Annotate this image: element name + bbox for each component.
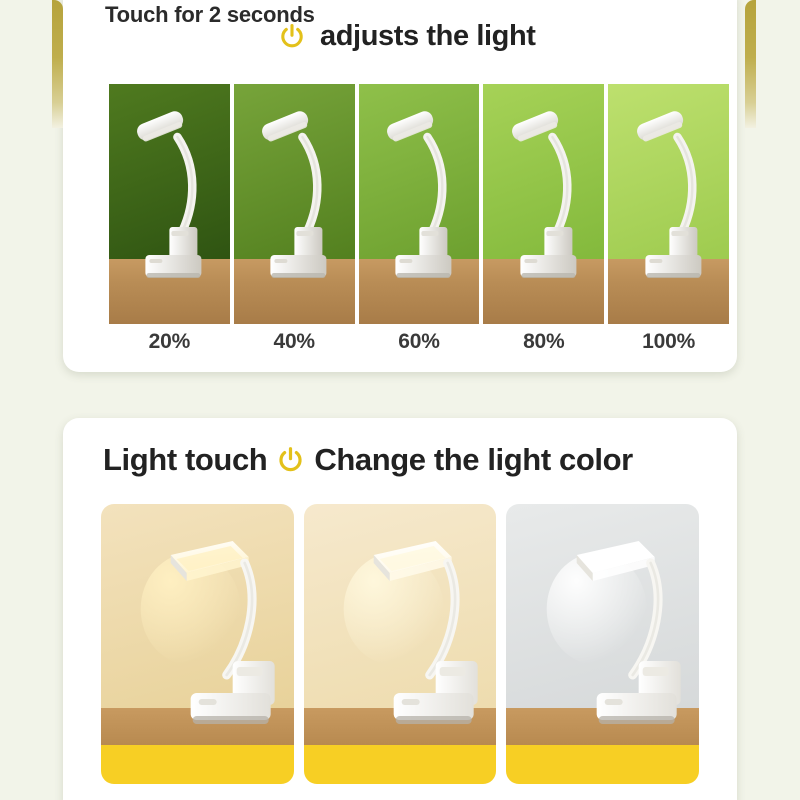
lamp-figure <box>635 105 715 295</box>
brightness-headline-text: adjusts the light <box>320 20 536 53</box>
color-headline-group: Light touch Change the light color <box>103 442 633 478</box>
lamp-figure <box>510 105 590 295</box>
panel-floor <box>101 745 294 784</box>
brightness-panel-strip <box>109 84 729 324</box>
brightness-percent-label: 40% <box>234 330 355 354</box>
brightness-percent-label: 100% <box>608 330 729 354</box>
lamp-figure <box>562 533 688 745</box>
decorative-rail-right <box>745 0 756 128</box>
lamp-figure <box>136 105 216 295</box>
panel-floor <box>506 745 699 784</box>
color-headline-after: Change the light color <box>314 442 632 478</box>
brightness-panel <box>109 84 230 324</box>
brightness-percent-label: 80% <box>483 330 604 354</box>
brightness-headline-group: adjusts the light <box>278 20 536 53</box>
light-color-panel-strip <box>101 504 699 784</box>
power-icon <box>278 23 306 51</box>
lamp-figure <box>385 105 465 295</box>
panel-floor <box>304 745 497 784</box>
light-color-panel-warm-light <box>101 504 294 784</box>
power-icon <box>276 446 305 475</box>
brightness-panel <box>483 84 604 324</box>
lamp-figure <box>261 105 341 295</box>
light-color-card: Light touch Change the light color <box>63 418 737 800</box>
brightness-percent-row: 20%40%60%80%100% <box>109 330 729 354</box>
lamp-figure <box>360 533 486 745</box>
brightness-percent-label: 20% <box>109 330 230 354</box>
brightness-percent-label: 60% <box>359 330 480 354</box>
lamp-figure <box>157 533 283 745</box>
light-color-panel-natural-light <box>304 504 497 784</box>
brightness-panel <box>608 84 729 324</box>
brightness-panel <box>359 84 480 324</box>
brightness-panel <box>234 84 355 324</box>
light-color-panel-cool-light <box>506 504 699 784</box>
brightness-card: Touch for 2 seconds adjusts the light <box>63 0 737 372</box>
color-headline-before: Light touch <box>103 442 267 478</box>
decorative-rail-left <box>52 0 63 128</box>
